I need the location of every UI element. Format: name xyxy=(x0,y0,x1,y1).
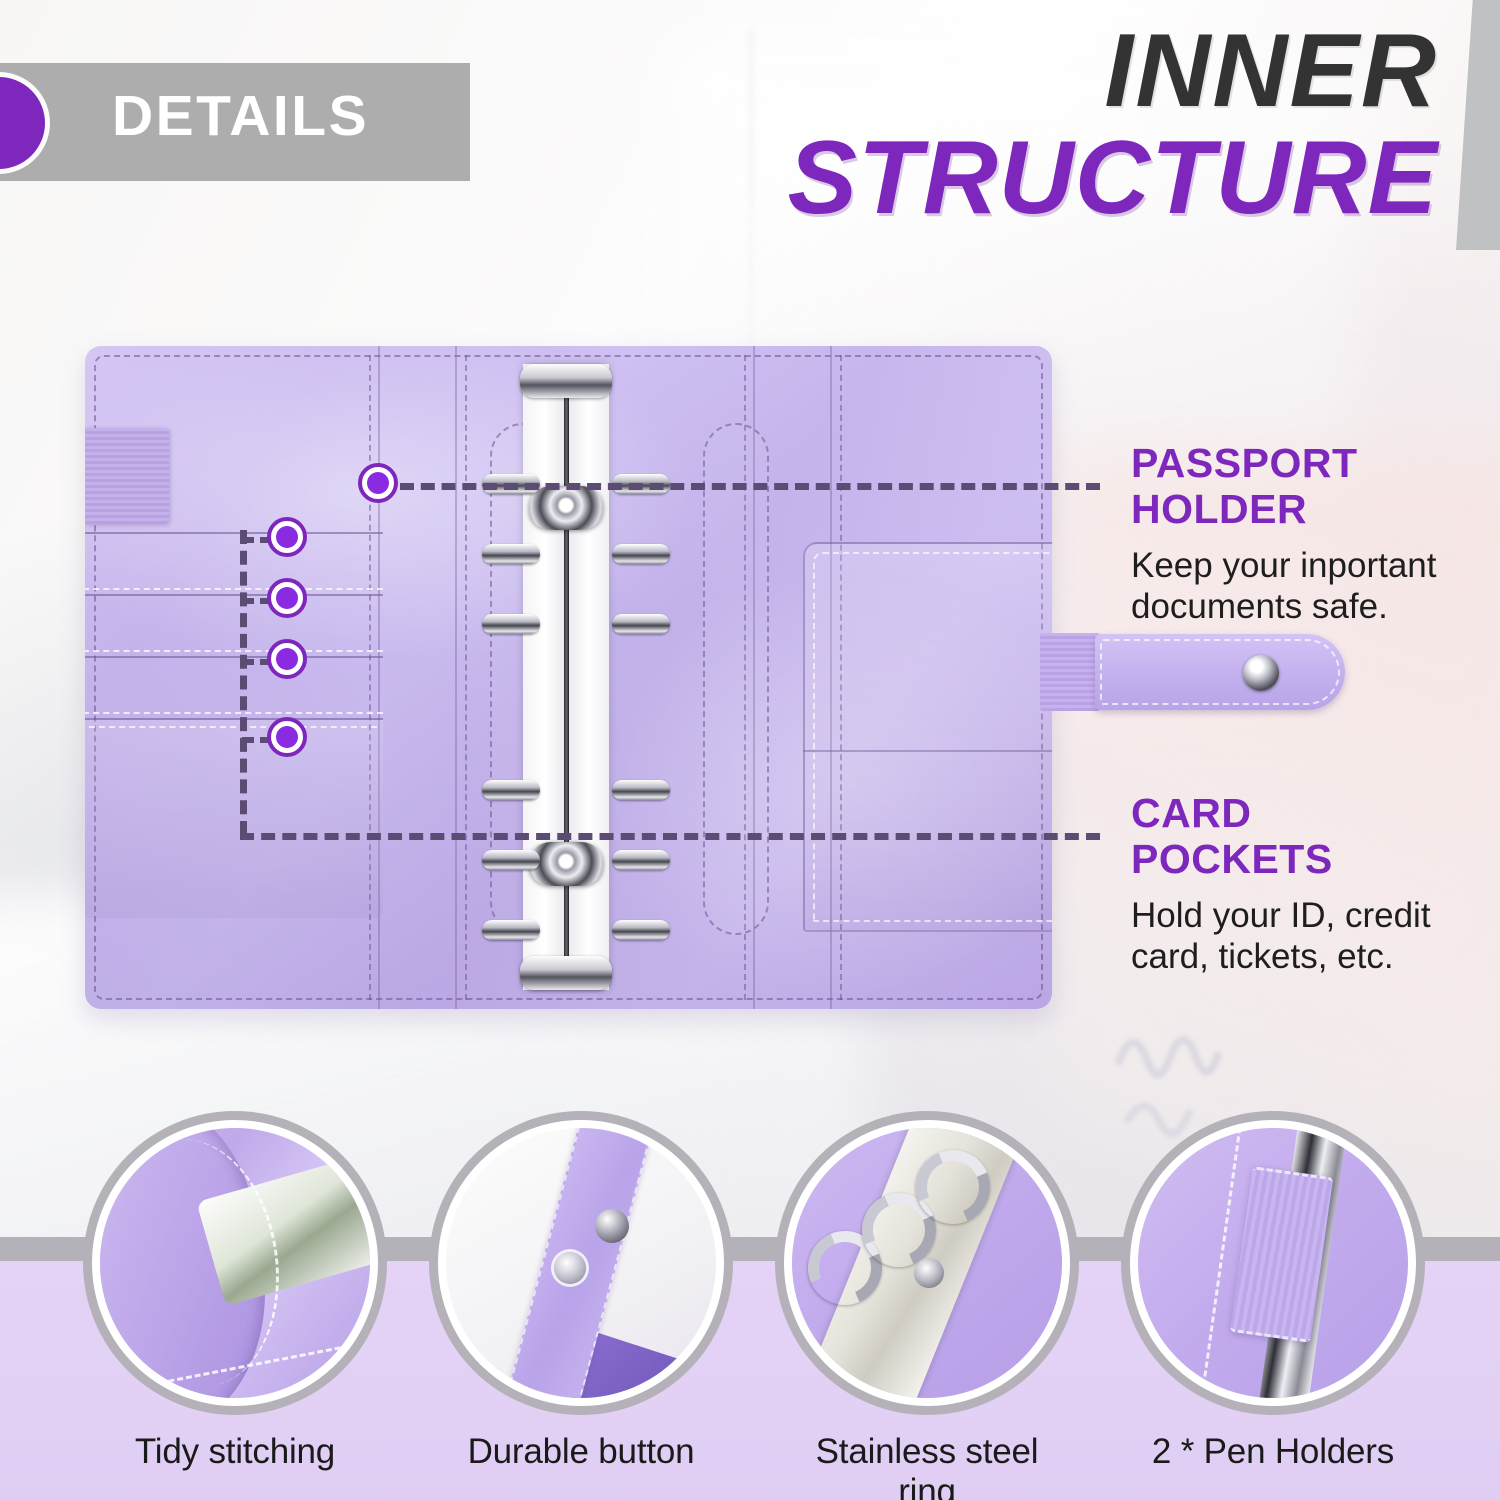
feature-photo-ring xyxy=(784,1120,1070,1406)
callout-card-title: CARD POCKETS xyxy=(1131,790,1491,883)
binder-fold-stitching xyxy=(465,355,467,1000)
callout-card-body-line2: card, tickets, etc. xyxy=(1131,937,1394,976)
binder-ring xyxy=(482,544,540,564)
leader-line-card-vertical xyxy=(240,530,247,835)
binder-ring xyxy=(612,614,670,634)
binder-fold-line xyxy=(455,346,457,1009)
callout-card-title-line2: POCKETS xyxy=(1131,836,1333,882)
binder-ring xyxy=(612,850,670,870)
snap-button-icon xyxy=(1243,655,1279,691)
callout-passport-title-line2: HOLDER xyxy=(1131,486,1307,532)
passport-holder-pocket xyxy=(803,542,1052,932)
binder-product-image xyxy=(85,346,1052,1009)
feature-photo-stitching xyxy=(92,1120,378,1406)
callout-passport-body: Keep your inportant documents safe. xyxy=(1131,545,1491,628)
card-pocket-large xyxy=(85,718,383,918)
ring-mechanism-cap xyxy=(520,956,612,990)
feature-item-ring: Stainless steel ring xyxy=(784,1120,1070,1500)
callout-passport-title: PASSPORT HOLDER xyxy=(1131,440,1491,533)
feature-photo-pen-holders xyxy=(1130,1120,1416,1406)
binder-ring xyxy=(482,780,540,800)
callout-card-body-line1: Hold your ID, credit xyxy=(1131,896,1431,935)
page-title-line1: INNER xyxy=(788,18,1438,124)
callout-card-title-line1: CARD xyxy=(1131,790,1251,836)
card-pocket-slot xyxy=(85,656,383,714)
annotation-dot-card-slot xyxy=(267,578,307,618)
annotation-dot-card-slot xyxy=(267,639,307,679)
annotation-dot-passport xyxy=(358,463,398,503)
feature-item-pen-holders: 2 * Pen Holders xyxy=(1130,1120,1416,1472)
ring-mechanism-cap xyxy=(520,364,612,398)
callout-passport-body-line2: documents safe. xyxy=(1131,587,1388,626)
details-badge-label: DETAILS xyxy=(112,83,369,149)
feature-caption-button: Durable button xyxy=(438,1432,724,1472)
callout-passport-title-line1: PASSPORT xyxy=(1131,440,1358,486)
leader-line-passport xyxy=(400,483,1100,490)
card-pocket-slot xyxy=(85,594,383,652)
binder-ring xyxy=(482,920,540,940)
page-title-line2: STRUCTURE xyxy=(788,124,1438,233)
page-title: INNER STRUCTURE xyxy=(788,18,1438,233)
callout-passport-body-line1: Keep your inportant xyxy=(1131,546,1436,585)
feature-caption-ring: Stainless steel ring xyxy=(784,1432,1070,1500)
binder-ring xyxy=(612,920,670,940)
binder-ring xyxy=(482,850,540,870)
ring-mechanism-clasp xyxy=(529,842,603,886)
callout-card-body: Hold your ID, credit card, tickets, etc. xyxy=(1131,895,1491,978)
leader-line-card-horizontal xyxy=(240,833,1100,840)
passport-strap-tab xyxy=(1095,634,1345,710)
ring-mechanism-plate xyxy=(523,364,609,990)
pen-holder-slot xyxy=(703,423,769,935)
feature-caption-stitching: Tidy stitching xyxy=(92,1432,378,1472)
binder-ring xyxy=(612,780,670,800)
feature-caption-pen-holders: 2 * Pen Holders xyxy=(1130,1432,1416,1472)
callout-card-pockets: CARD POCKETS Hold your ID, credit card, … xyxy=(1131,790,1491,977)
ring-mechanism-clasp xyxy=(529,486,603,530)
callout-passport-holder: PASSPORT HOLDER Keep your inportant docu… xyxy=(1131,440,1491,627)
card-pocket-slot xyxy=(85,532,383,590)
binder-ring xyxy=(612,544,670,564)
passport-pocket-divider xyxy=(803,750,1052,752)
binder-ring xyxy=(482,614,540,634)
pen-holder-elastic-loop xyxy=(85,428,169,524)
feature-item-button: Durable button xyxy=(438,1120,724,1472)
feature-item-stitching: Tidy stitching xyxy=(92,1120,378,1472)
annotation-dot-card-slot xyxy=(267,717,307,757)
annotation-dot-card-slot xyxy=(267,517,307,557)
passport-strap-elastic xyxy=(1040,633,1100,711)
feature-photo-button xyxy=(438,1120,724,1406)
